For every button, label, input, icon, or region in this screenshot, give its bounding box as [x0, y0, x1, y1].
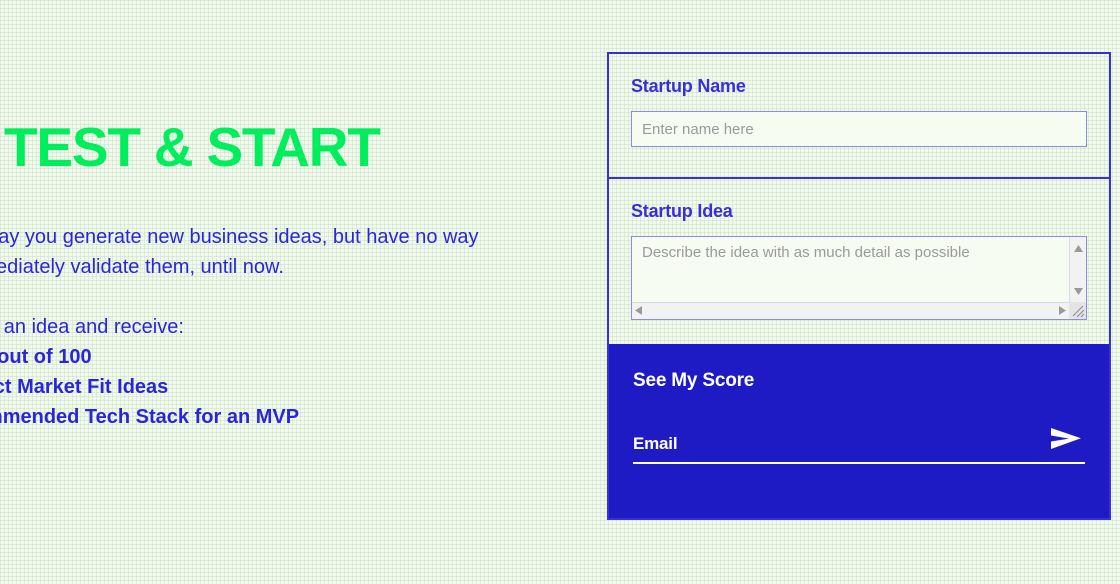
email-input[interactable]: [633, 434, 1041, 454]
startup-name-field-group: Startup Name: [609, 54, 1109, 177]
textarea-vertical-scrollbar[interactable]: [1069, 237, 1086, 302]
startup-submission-form: Startup Name Startup Idea: [607, 52, 1111, 520]
hero-body: Everyday you generate new business ideas…: [0, 222, 496, 432]
startup-idea-label: Startup Idea: [631, 201, 1087, 222]
list-item: Score out of 100: [0, 342, 496, 372]
scroll-up-arrow-icon[interactable]: [1074, 239, 1083, 257]
submit-email-button[interactable]: [1049, 426, 1083, 452]
scroll-right-arrow-icon[interactable]: [1059, 302, 1066, 320]
see-my-score-title: See My Score: [633, 370, 1085, 392]
scroll-down-arrow-icon[interactable]: [1074, 282, 1083, 300]
textarea-resize-grip[interactable]: [1069, 302, 1086, 319]
email-row: [633, 426, 1085, 464]
textarea-horizontal-scrollbar[interactable]: [632, 302, 1069, 319]
hero-subhead: Submit an idea and receive:: [0, 312, 496, 342]
benefits-list: Score out of 100 Product Market Fit Idea…: [0, 342, 496, 432]
list-item: Product Market Fit Ideas: [0, 372, 496, 402]
hero-section: TEST & START Everyday you generate new b…: [0, 0, 516, 584]
see-my-score-section: See My Score: [609, 344, 1109, 518]
startup-name-label: Startup Name: [631, 76, 1087, 97]
hero-title-row: TEST & START: [0, 118, 380, 176]
startup-name-input[interactable]: [631, 111, 1087, 147]
scroll-left-arrow-icon[interactable]: [635, 302, 642, 320]
startup-idea-field-group: Startup Idea: [609, 179, 1109, 344]
startup-idea-textarea[interactable]: [632, 237, 1069, 302]
send-arrow-icon: [1049, 440, 1083, 455]
page-title: TEST & START: [4, 120, 380, 175]
list-item: Recommended Tech Stack for an MVP: [0, 402, 496, 432]
hero-paragraph: Everyday you generate new business ideas…: [0, 222, 496, 282]
hero-spacer: [0, 282, 496, 312]
startup-idea-textarea-wrap: [631, 236, 1087, 320]
